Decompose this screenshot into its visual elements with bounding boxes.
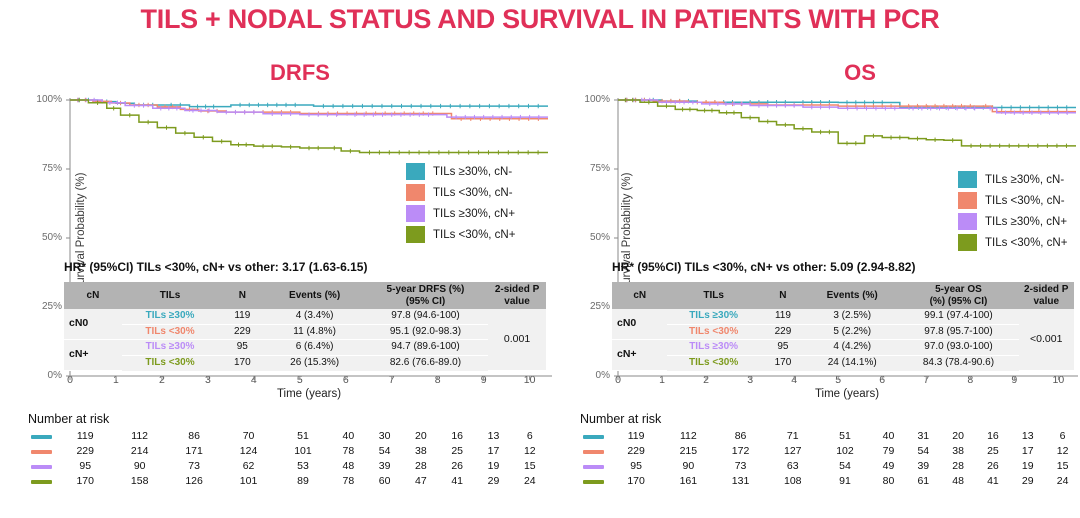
legend-label: TILs <30%, cN+ [985, 237, 1067, 249]
number-at-risk-row: 11911286715140312016136 [580, 428, 1080, 443]
table-cell-surv: 82.6 (76.6-89.0) [363, 355, 488, 370]
table-row: TILs <30%17024 (14.1%)84.3 (78.4-90.6) [612, 355, 1074, 370]
km-curve [70, 100, 548, 152]
number-at-risk-value: 28 [941, 458, 976, 473]
number-at-risk-row: 229214171124101785438251712 [28, 443, 548, 458]
table-cell-surv: 97.8 (94.6-100) [363, 309, 488, 324]
legend-item: TILs ≥30%, cN+ [958, 213, 1067, 230]
table-cell-tils: TILs <30% [667, 355, 759, 370]
table-header-cell: Events (%) [266, 282, 362, 309]
table-cell-cn: cN+ [64, 340, 122, 371]
number-at-risk-value: 26 [439, 458, 475, 473]
number-at-risk-swatch-icon [580, 458, 610, 473]
table-cell-events: 5 (2.2%) [806, 324, 898, 340]
x-axis-label: Time (years) [618, 388, 1076, 400]
number-at-risk-value: 78 [330, 443, 366, 458]
number-at-risk-value: 30 [366, 428, 402, 443]
number-at-risk-value: 6 [512, 428, 548, 443]
chart-legend: TILs ≥30%, cN-TILs <30%, cN-TILs ≥30%, c… [406, 163, 515, 247]
table-cell-n: 229 [760, 324, 806, 340]
table-cell-tils: TILs <30% [667, 324, 759, 340]
number-at-risk-value: 39 [366, 458, 402, 473]
number-at-risk-value: 48 [330, 458, 366, 473]
number-at-risk-row: 229215172127102795438251712 [580, 443, 1080, 458]
number-at-risk-value: 112 [112, 428, 166, 443]
table-cell-events: 24 (14.1%) [806, 355, 898, 370]
number-at-risk-value: 31 [906, 428, 941, 443]
number-at-risk-caption: Number at risk [580, 412, 1080, 426]
table-cell-cn: cN+ [612, 340, 667, 371]
table-cell-n: 119 [760, 309, 806, 324]
table-row: TILs <30%22911 (4.8%)95.1 (92.0-98.3) [64, 324, 546, 340]
number-at-risk-value: 78 [330, 473, 366, 488]
legend-swatch-icon [958, 213, 977, 230]
number-at-risk-value: 79 [871, 443, 906, 458]
number-at-risk-swatch-icon [580, 443, 610, 458]
number-at-risk-value: 161 [662, 473, 714, 488]
table-header-cell: cN [64, 282, 122, 309]
header-line-1: 2-sided P [491, 284, 543, 296]
number-at-risk-value: 53 [276, 458, 330, 473]
number-at-risk-value: 86 [167, 428, 221, 443]
panel-title-os: OS [760, 60, 960, 86]
table-header-cell: TILs [667, 282, 759, 309]
number-at-risk-value: 51 [819, 428, 871, 443]
table-cell-pvalue: 0.001 [488, 309, 546, 370]
number-at-risk-row: 17016113110891806148412924 [580, 473, 1080, 488]
table-cell-cn: cN0 [64, 309, 122, 340]
legend-swatch-icon [406, 184, 425, 201]
number-at-risk-value: 61 [906, 473, 941, 488]
legend-label: TILs ≥30%, cN+ [985, 216, 1067, 228]
number-at-risk-value: 171 [167, 443, 221, 458]
number-at-risk-value: 24 [1045, 473, 1080, 488]
number-at-risk-value: 39 [906, 458, 941, 473]
legend-swatch-icon [406, 205, 425, 222]
table-header-cell: TILs [122, 282, 218, 309]
number-at-risk-block: Number at risk11911286705140302016136229… [28, 412, 548, 488]
number-at-risk-value: 73 [714, 458, 766, 473]
number-at-risk-table: 1191128670514030201613622921417112410178… [28, 428, 548, 488]
number-at-risk-value: 17 [475, 443, 511, 458]
number-at-risk-caption: Number at risk [28, 412, 548, 426]
number-at-risk-value: 73 [167, 458, 221, 473]
table-cell-tils: TILs ≥30% [122, 309, 218, 324]
number-at-risk-value: 17 [1010, 443, 1045, 458]
number-at-risk-swatch-icon [28, 458, 58, 473]
page-title: TILS + NODAL STATUS AND SURVIVAL IN PATI… [0, 4, 1080, 35]
table-cell-surv: 97.8 (95.7-100) [898, 324, 1018, 340]
number-at-risk-value: 214 [112, 443, 166, 458]
number-at-risk-value: 38 [941, 443, 976, 458]
table-cell-events: 4 (4.2%) [806, 340, 898, 356]
number-at-risk-value: 102 [819, 443, 871, 458]
table-row: cN0TILs ≥30%1193 (2.5%)99.1 (97.4-100)<0… [612, 309, 1074, 324]
number-at-risk-value: 40 [330, 428, 366, 443]
number-at-risk-value: 124 [221, 443, 275, 458]
panel-title-drfs: DRFS [200, 60, 400, 86]
table-cell-n: 95 [218, 340, 266, 356]
legend-item: TILs <30%, cN- [958, 192, 1067, 209]
number-at-risk-value: 15 [512, 458, 548, 473]
number-at-risk-value: 80 [871, 473, 906, 488]
number-at-risk-row: 11911286705140302016136 [28, 428, 548, 443]
number-at-risk-value: 63 [767, 458, 819, 473]
number-at-risk-value: 229 [58, 443, 112, 458]
table-cell-tils: TILs ≥30% [667, 340, 759, 356]
number-at-risk-value: 119 [610, 428, 662, 443]
number-at-risk-value: 95 [58, 458, 112, 473]
legend-item: TILs ≥30%, cN- [958, 171, 1067, 188]
number-at-risk-value: 13 [475, 428, 511, 443]
statistics-table: cNTILsNEvents (%)5-year OS(%) (95% CI)2-… [612, 282, 1074, 371]
number-at-risk-value: 91 [819, 473, 871, 488]
number-at-risk-value: 25 [439, 443, 475, 458]
number-at-risk-value: 158 [112, 473, 166, 488]
number-at-risk-value: 170 [58, 473, 112, 488]
statistics-table: cNTILsNEvents (%)5-year DRFS (%)(95% CI)… [64, 282, 546, 371]
table-header-cell-pvalue: 2-sided Pvalue [488, 282, 546, 309]
number-at-risk-value: 12 [512, 443, 548, 458]
legend-swatch-icon [406, 163, 425, 180]
number-at-risk-value: 29 [1010, 473, 1045, 488]
table-row: TILs <30%17026 (15.3%)82.6 (76.6-89.0) [64, 355, 546, 370]
table-cell-tils: TILs <30% [122, 324, 218, 340]
number-at-risk-value: 62 [221, 458, 275, 473]
table-header-cell: N [760, 282, 806, 309]
number-at-risk-swatch-icon [28, 473, 58, 488]
number-at-risk-value: 6 [1045, 428, 1080, 443]
number-at-risk-value: 54 [366, 443, 402, 458]
chart-panel-os: Survival Probability (%)100%75%50%25%0%0… [560, 88, 1078, 400]
number-at-risk-value: 70 [221, 428, 275, 443]
table-cell-surv: 99.1 (97.4-100) [898, 309, 1018, 324]
table-cell-tils: TILs ≥30% [667, 309, 759, 324]
number-at-risk-value: 89 [276, 473, 330, 488]
legend-label: TILs ≥30%, cN- [985, 174, 1064, 186]
slide-root: TILS + NODAL STATUS AND SURVIVAL IN PATI… [0, 0, 1080, 518]
chart-panel-drfs: Survival Probability (%)100%75%50%25%0%0… [8, 88, 553, 400]
table-cell-events: 6 (6.4%) [266, 340, 362, 356]
legend-item: TILs <30%, cN+ [406, 226, 515, 243]
number-at-risk-value: 126 [167, 473, 221, 488]
table-header-cell-survival: 5-year OS(%) (95% CI) [898, 282, 1018, 309]
number-at-risk-value: 127 [767, 443, 819, 458]
number-at-risk-value: 60 [366, 473, 402, 488]
table-cell-events: 26 (15.3%) [266, 355, 362, 370]
table-header-cell: cN [612, 282, 667, 309]
table-cell-n: 170 [218, 355, 266, 370]
number-at-risk-row: 9590736253483928261915 [28, 458, 548, 473]
number-at-risk-value: 54 [906, 443, 941, 458]
legend-label: TILs <30%, cN- [433, 187, 513, 199]
number-at-risk-value: 26 [976, 458, 1011, 473]
number-at-risk-value: 215 [662, 443, 714, 458]
number-at-risk-value: 101 [221, 473, 275, 488]
table-row: cN+TILs ≥30%954 (4.2%)97.0 (93.0-100) [612, 340, 1074, 356]
number-at-risk-swatch-icon [580, 428, 610, 443]
number-at-risk-table: 1191128671514031201613622921517212710279… [580, 428, 1080, 488]
number-at-risk-value: 40 [871, 428, 906, 443]
number-at-risk-value: 54 [819, 458, 871, 473]
number-at-risk-value: 86 [714, 428, 766, 443]
number-at-risk-value: 112 [662, 428, 714, 443]
table-row: cN0TILs ≥30%1194 (3.4%)97.8 (94.6-100)0.… [64, 309, 546, 324]
number-at-risk-value: 29 [475, 473, 511, 488]
header-line-1: 2-sided P [1022, 284, 1071, 296]
number-at-risk-value: 108 [767, 473, 819, 488]
legend-label: TILs ≥30%, cN+ [433, 208, 515, 220]
number-at-risk-value: 28 [403, 458, 439, 473]
chart-legend: TILs ≥30%, cN-TILs <30%, cN-TILs ≥30%, c… [958, 171, 1067, 255]
header-line-1: 5-year OS [901, 284, 1015, 296]
number-at-risk-value: 20 [941, 428, 976, 443]
header-line-2: (%) (95% CI) [901, 296, 1015, 308]
table-cell-n: 119 [218, 309, 266, 324]
legend-item: TILs ≥30%, cN- [406, 163, 515, 180]
hazard-ratio-text: HR* (95%CI) TILs <30%, cN+ vs other: 3.1… [64, 260, 367, 274]
legend-label: TILs <30%, cN- [985, 195, 1065, 207]
table-cell-surv: 84.3 (78.4-90.6) [898, 355, 1018, 370]
table-cell-n: 170 [760, 355, 806, 370]
legend-item: TILs ≥30%, cN+ [406, 205, 515, 222]
table-row: cN+TILs ≥30%956 (6.4%)94.7 (89.6-100) [64, 340, 546, 356]
number-at-risk-value: 41 [439, 473, 475, 488]
table-header-cell: N [218, 282, 266, 309]
table-cell-n: 229 [218, 324, 266, 340]
number-at-risk-value: 119 [58, 428, 112, 443]
number-at-risk-value: 101 [276, 443, 330, 458]
number-at-risk-value: 24 [512, 473, 548, 488]
number-at-risk-value: 19 [1010, 458, 1045, 473]
number-at-risk-value: 172 [714, 443, 766, 458]
legend-label: TILs <30%, cN+ [433, 229, 515, 241]
number-at-risk-value: 48 [941, 473, 976, 488]
table-cell-surv: 97.0 (93.0-100) [898, 340, 1018, 356]
table-cell-surv: 95.1 (92.0-98.3) [363, 324, 488, 340]
number-at-risk-swatch-icon [28, 443, 58, 458]
number-at-risk-value: 90 [112, 458, 166, 473]
legend-item: TILs <30%, cN+ [958, 234, 1067, 251]
table-cell-tils: TILs ≥30% [122, 340, 218, 356]
header-line-2: (95% CI) [366, 296, 485, 308]
number-at-risk-value: 12 [1045, 443, 1080, 458]
number-at-risk-value: 90 [662, 458, 714, 473]
number-at-risk-swatch-icon [580, 473, 610, 488]
table-cell-n: 95 [760, 340, 806, 356]
number-at-risk-value: 170 [610, 473, 662, 488]
number-at-risk-value: 13 [1010, 428, 1045, 443]
number-at-risk-value: 49 [871, 458, 906, 473]
table-cell-tils: TILs <30% [122, 355, 218, 370]
number-at-risk-value: 20 [403, 428, 439, 443]
legend-swatch-icon [958, 234, 977, 251]
legend-label: TILs ≥30%, cN- [433, 166, 512, 178]
number-at-risk-value: 131 [714, 473, 766, 488]
header-line-2: value [1022, 296, 1071, 308]
table-cell-events: 11 (4.8%) [266, 324, 362, 340]
table-cell-events: 3 (2.5%) [806, 309, 898, 324]
number-at-risk-value: 51 [276, 428, 330, 443]
table-header-cell-survival: 5-year DRFS (%)(95% CI) [363, 282, 488, 309]
table-cell-events: 4 (3.4%) [266, 309, 362, 324]
table-cell-cn: cN0 [612, 309, 667, 340]
number-at-risk-value: 47 [403, 473, 439, 488]
number-at-risk-value: 19 [475, 458, 511, 473]
number-at-risk-value: 38 [403, 443, 439, 458]
number-at-risk-value: 71 [767, 428, 819, 443]
number-at-risk-value: 16 [439, 428, 475, 443]
legend-swatch-icon [406, 226, 425, 243]
number-at-risk-value: 16 [976, 428, 1011, 443]
table-row: TILs <30%2295 (2.2%)97.8 (95.7-100) [612, 324, 1074, 340]
legend-swatch-icon [958, 192, 977, 209]
number-at-risk-value: 41 [976, 473, 1011, 488]
table-cell-pvalue: <0.001 [1019, 309, 1074, 370]
table-cell-surv: 94.7 (89.6-100) [363, 340, 488, 356]
number-at-risk-value: 95 [610, 458, 662, 473]
number-at-risk-row: 17015812610189786047412924 [28, 473, 548, 488]
hazard-ratio-text: HR* (95%CI) TILs <30%, cN+ vs other: 5.0… [612, 260, 915, 274]
number-at-risk-value: 15 [1045, 458, 1080, 473]
number-at-risk-value: 25 [976, 443, 1011, 458]
number-at-risk-row: 9590736354493928261915 [580, 458, 1080, 473]
number-at-risk-block: Number at risk11911286715140312016136229… [580, 412, 1080, 488]
legend-item: TILs <30%, cN- [406, 184, 515, 201]
legend-swatch-icon [958, 171, 977, 188]
table-header-cell: Events (%) [806, 282, 898, 309]
table-header-cell-pvalue: 2-sided Pvalue [1019, 282, 1074, 309]
x-axis-label: Time (years) [70, 388, 548, 400]
number-at-risk-value: 229 [610, 443, 662, 458]
header-line-1: 5-year DRFS (%) [366, 284, 485, 296]
number-at-risk-swatch-icon [28, 428, 58, 443]
header-line-2: value [491, 296, 543, 308]
